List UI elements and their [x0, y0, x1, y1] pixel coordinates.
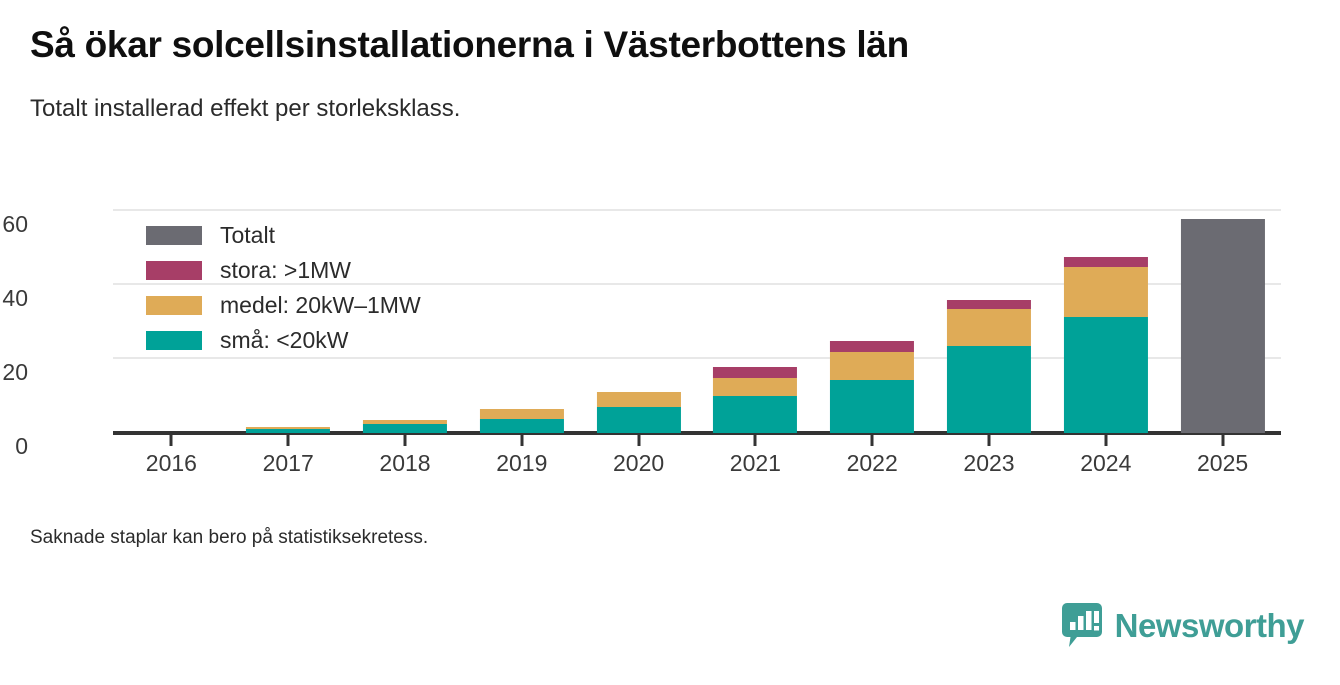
bar-segment[interactable]	[1064, 267, 1148, 317]
x-axis-tick-label: 2024	[1080, 450, 1131, 477]
bar-segment[interactable]	[830, 380, 914, 433]
x-axis-tick-label: 2018	[379, 450, 430, 477]
bar-segment[interactable]	[246, 429, 330, 433]
bar-segment[interactable]	[480, 409, 564, 419]
page-title: Så ökar solcellsinstallationerna i Väste…	[30, 24, 1310, 67]
x-axis-tick-label: 2023	[963, 450, 1014, 477]
x-axis-tick-label: 2019	[496, 450, 547, 477]
bar-segment[interactable]	[597, 392, 681, 408]
x-axis-tick-label: 2021	[730, 450, 781, 477]
bar-2019[interactable]	[480, 409, 564, 433]
x-axis-tick-label: 2025	[1197, 450, 1248, 477]
bar-2018[interactable]	[363, 420, 447, 433]
legend-label: Totalt	[220, 222, 275, 249]
bar-2024[interactable]	[1064, 257, 1148, 433]
x-axis-tick-label: 2020	[613, 450, 664, 477]
bar-segment[interactable]	[597, 407, 681, 433]
chart-figure: 0204060201620172018201920202021202220232…	[0, 192, 1340, 492]
legend-swatch-total	[146, 226, 202, 245]
x-axis-tick-2022	[871, 433, 874, 446]
x-axis-tick-label: 2022	[847, 450, 898, 477]
bar-segment[interactable]	[947, 346, 1031, 433]
bar-segment[interactable]	[363, 424, 447, 433]
legend-swatch-medium	[146, 296, 202, 315]
x-axis-tick-2025	[1221, 433, 1224, 446]
bar-segment[interactable]	[713, 367, 797, 377]
chart-subtitle: Totalt installerad effekt per storlekskl…	[30, 67, 1310, 124]
x-axis-tick-label: 2016	[146, 450, 197, 477]
bar-segment[interactable]	[947, 309, 1031, 347]
bar-segment[interactable]	[1064, 257, 1148, 266]
chart-footnote: Saknade staplar kan bero på statistiksek…	[30, 527, 428, 549]
chart-header: Så ökar solcellsinstallationerna i Väste…	[30, 24, 1310, 123]
speech-bubble-bar-chart-icon	[1061, 602, 1103, 648]
bar-2017[interactable]	[246, 427, 330, 433]
x-axis-tick-2017	[287, 433, 290, 446]
x-axis-tick-2023	[988, 433, 991, 446]
newsworthy-logo: Newsworthy	[1061, 602, 1304, 648]
bar-segment[interactable]	[830, 341, 914, 352]
bar-segment[interactable]	[830, 352, 914, 380]
bar-segment[interactable]	[1181, 219, 1265, 433]
x-axis-tick-2020	[637, 433, 640, 446]
x-axis-tick-2018	[404, 433, 407, 446]
legend-label: stora: >1MW	[220, 257, 351, 284]
chart-legend: Totaltstora: >1MWmedel: 20kW–1MWsmå: <20…	[146, 218, 421, 358]
x-axis-tick-2021	[754, 433, 757, 446]
bar-segment[interactable]	[713, 378, 797, 397]
legend-item-large[interactable]: stora: >1MW	[146, 253, 421, 288]
legend-swatch-small	[146, 331, 202, 350]
x-axis-tick-2016	[170, 433, 173, 446]
legend-item-small[interactable]: små: <20kW	[146, 323, 421, 358]
bar-segment[interactable]	[947, 300, 1031, 309]
legend-item-total[interactable]: Totalt	[146, 218, 421, 253]
bar-segment[interactable]	[1064, 317, 1148, 433]
bar-2022[interactable]	[830, 341, 914, 433]
legend-label: små: <20kW	[220, 327, 348, 354]
bar-segment[interactable]	[480, 419, 564, 433]
gridline-y-60	[113, 209, 1281, 211]
x-axis-tick-2024	[1104, 433, 1107, 446]
bar-2021[interactable]	[713, 367, 797, 433]
legend-swatch-large	[146, 261, 202, 280]
legend-label: medel: 20kW–1MW	[220, 292, 421, 319]
logo-wordmark: Newsworthy	[1115, 609, 1304, 642]
bar-segment[interactable]	[713, 396, 797, 433]
bar-2020[interactable]	[597, 392, 681, 433]
x-axis-tick-label: 2017	[263, 450, 314, 477]
bar-2025[interactable]	[1181, 219, 1265, 433]
legend-item-medium[interactable]: medel: 20kW–1MW	[146, 288, 421, 323]
x-axis-tick-2019	[520, 433, 523, 446]
bar-2023[interactable]	[947, 300, 1031, 433]
